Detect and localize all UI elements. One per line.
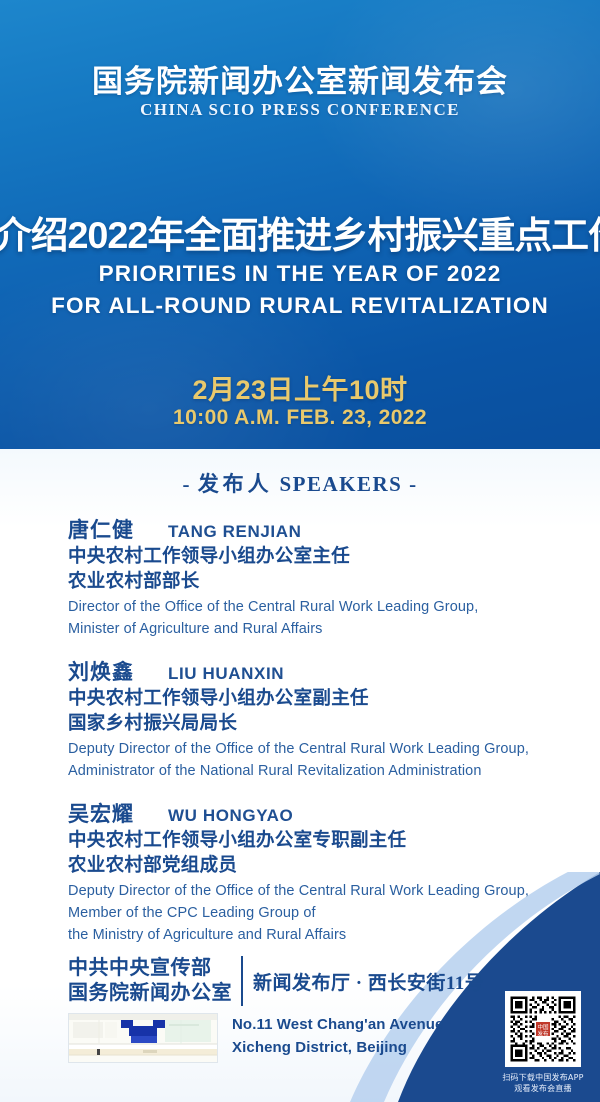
body-section: - 发布人 SPEAKERS - 唐仁健 TANG RENJIAN 中央农村工作… <box>0 449 600 1102</box>
footer-org-cn-line1: 中共中央宣传部 <box>68 956 232 981</box>
speaker-title-cn-line2: 农业农村部部长 <box>68 570 600 595</box>
speaker-title-en-line2: Minister of Agriculture and Rural Affair… <box>68 619 600 639</box>
main-title-cn: 介绍2022年全面推进乡村振兴重点工作 <box>0 205 600 259</box>
speaker-title-cn-line1: 中央农村工作领导小组办公室主任 <box>68 545 600 570</box>
speaker-title-en-line1: Director of the Office of the Central Ru… <box>68 597 600 617</box>
speaker-entry: 唐仁健 TANG RENJIAN 中央农村工作领导小组办公室主任 农业农村部部长… <box>0 514 600 639</box>
footer-org-cn-line2: 国务院新闻办公室 <box>68 981 232 1006</box>
speaker-title-cn-line2: 国家乡村振兴局局长 <box>68 712 600 737</box>
speaker-name-row: 唐仁健 TANG RENJIAN <box>68 514 600 544</box>
speaker-entry: 吴宏耀 WU HONGYAO 中央农村工作领导小组办公室专职副主任 农业农村部党… <box>0 798 600 945</box>
speaker-name-cn: 刘焕鑫 <box>68 656 134 686</box>
qr-code-image[interactable]: 中国 发布 <box>505 991 581 1067</box>
footer-venue-cn: 新闻发布厅 · 西长安街11号 <box>243 968 484 995</box>
qr-caption-line2: 观看发布会直播 <box>500 1083 586 1094</box>
qr-caption-line1: 扫码下载中国发布APP <box>500 1072 586 1083</box>
speaker-name-cn: 唐仁健 <box>68 514 134 544</box>
speakers-dash-left: - <box>182 472 191 496</box>
footer-bottom-row: No.11 West Chang'an Avenue Xicheng Distr… <box>68 1013 484 1063</box>
speakers-label-en: SPEAKERS <box>279 472 402 496</box>
footer-venue-en-line2: Xicheng District, Beijing <box>232 1036 444 1059</box>
qr-logo-cn-line1: 中国 <box>537 1023 549 1031</box>
speaker-title-en-line1: Deputy Director of the Office of the Cen… <box>68 739 600 759</box>
scio-title-cn: 国务院新闻办公室新闻发布会 <box>0 56 600 101</box>
event-date-cn: 2月23日上午10时 <box>0 368 600 407</box>
speaker-title-en-line3: the Ministry of Agriculture and Rural Af… <box>68 925 600 945</box>
qr-logo-cn-line2: 发布 <box>537 1029 549 1037</box>
main-title-en-line2: FOR ALL-ROUND RURAL REVITALIZATION <box>0 290 600 322</box>
speaker-name-pinyin: WU HONGYAO <box>168 806 293 826</box>
qr-caption: 扫码下载中国发布APP 观看发布会直播 <box>500 1072 586 1094</box>
scio-title-en: CHINA SCIO PRESS CONFERENCE <box>0 100 600 120</box>
speaker-title-en-line2: Administrator of the National Rural Revi… <box>68 761 600 781</box>
speaker-title-en-line2: Member of the CPC Leading Group of <box>68 903 600 923</box>
main-title-en: PRIORITIES IN THE YEAR OF 2022 FOR ALL-R… <box>0 258 600 322</box>
speaker-entry: 刘焕鑫 LIU HUANXIN 中央农村工作领导小组办公室副主任 国家乡村振兴局… <box>0 656 600 781</box>
press-conference-poster: 国务院新闻办公室新闻发布会 CHINA SCIO PRESS CONFERENC… <box>0 0 600 1102</box>
speakers-section-header: - 发布人 SPEAKERS - <box>0 468 600 498</box>
footer-org-cn: 中共中央宣传部 国务院新闻办公室 <box>68 956 243 1006</box>
venue-map-thumbnail[interactable] <box>68 1013 218 1063</box>
speaker-name-row: 吴宏耀 WU HONGYAO <box>68 798 600 828</box>
footer-left: 中共中央宣传部 国务院新闻办公室 新闻发布厅 · 西长安街11号 <box>68 956 484 1063</box>
footer: 中共中央宣传部 国务院新闻办公室 新闻发布厅 · 西长安街11号 <box>0 952 600 1102</box>
main-title-en-line1: PRIORITIES IN THE YEAR OF 2022 <box>0 258 600 290</box>
speaker-title-cn-line2: 农业农村部党组成员 <box>68 854 600 879</box>
event-date-en: 10:00 A.M. FEB. 23, 2022 <box>0 406 600 430</box>
qr-code-block[interactable]: 中国 发布 扫码下载中国发布APP 观看发布会直播 <box>500 991 586 1094</box>
speaker-name-pinyin: LIU HUANXIN <box>168 664 284 684</box>
footer-venue-en-line1: No.11 West Chang'an Avenue <box>232 1013 444 1036</box>
qr-code-graphic: 中国 发布 <box>508 994 578 1064</box>
footer-org-block: 中共中央宣传部 国务院新闻办公室 新闻发布厅 · 西长安街11号 <box>68 956 484 1006</box>
speaker-title-cn-line1: 中央农村工作领导小组办公室专职副主任 <box>68 829 600 854</box>
speaker-title-en-line1: Deputy Director of the Office of the Cen… <box>68 881 600 901</box>
speaker-name-pinyin: TANG RENJIAN <box>168 522 301 542</box>
map-graphic <box>69 1014 217 1062</box>
hero-banner: 国务院新闻办公室新闻发布会 CHINA SCIO PRESS CONFERENC… <box>0 0 600 449</box>
speaker-title-cn-line1: 中央农村工作领导小组办公室副主任 <box>68 687 600 712</box>
footer-venue-en: No.11 West Chang'an Avenue Xicheng Distr… <box>232 1013 444 1059</box>
speakers-dash-right: - <box>409 472 418 496</box>
speaker-name-cn: 吴宏耀 <box>68 798 134 828</box>
speaker-name-row: 刘焕鑫 LIU HUANXIN <box>68 656 600 686</box>
speakers-label-cn: 发布人 <box>198 472 273 496</box>
